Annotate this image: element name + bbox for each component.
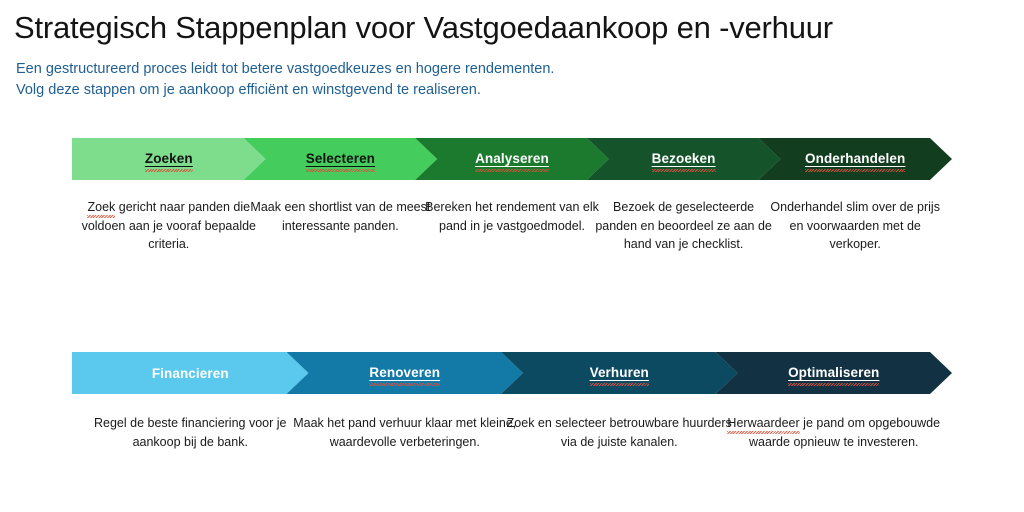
chevron-step-verhuren[interactable]: Verhuren — [501, 352, 738, 394]
chevron-step-financieren[interactable]: Financieren — [72, 352, 309, 394]
step-description-bezoeken: Bezoek de geselecteerde panden en beoord… — [587, 198, 781, 254]
chevron-step-label: Bezoeken — [652, 151, 716, 167]
page-subtitle: Een gestructureerd proces leidt tot bete… — [16, 59, 1024, 101]
process-row-exploitatie-fase: FinancierenRenoverenVerhurenOptimalisere… — [0, 352, 1024, 408]
page-title: Strategisch Stappenplan voor Vastgoedaan… — [14, 8, 1024, 48]
chevron-step-label: Selecteren — [306, 151, 375, 167]
step-description-onderhandelen: Onderhandel slim over de prijs en voorwa… — [758, 198, 952, 254]
step-description-verhuren: Zoek en selecteer betrouwbare huurders v… — [501, 414, 738, 451]
description-band-green: Zoek gericht naar panden die voldoen aan… — [72, 180, 952, 194]
process-row-aankoop-fase: ZoekenSelecterenAnalyserenBezoekenOnderh… — [0, 138, 1024, 194]
step-description-analyseren: Bereken het rendement van elk pand in je… — [415, 198, 609, 235]
subtitle-line-1: Een gestructureerd proces leidt tot bete… — [16, 59, 1024, 80]
chevron-step-label: Renoveren — [369, 365, 440, 381]
chevron-step-onderhandelen[interactable]: Onderhandelen — [758, 138, 952, 180]
chevron-step-zoeken[interactable]: Zoeken — [72, 138, 266, 180]
chevron-step-label: Onderhandelen — [805, 151, 905, 167]
chevron-step-label: Analyseren — [475, 151, 549, 167]
description-band-blue: Regel de beste financiering voor je aank… — [72, 394, 952, 408]
step-description-selecteren: Maak een shortlist van de meest interess… — [244, 198, 438, 235]
chevron-step-label: Verhuren — [590, 365, 649, 381]
chevron-step-optimaliseren[interactable]: Optimaliseren — [716, 352, 953, 394]
spellcheck-word: Zoek — [87, 198, 115, 217]
chevron-step-renoveren[interactable]: Renoveren — [287, 352, 524, 394]
chevron-step-label: Financieren — [152, 366, 229, 381]
chevron-step-analyseren[interactable]: Analyseren — [415, 138, 609, 180]
step-description-renoveren: Maak het pand verhuur klaar met kleine, … — [287, 414, 524, 451]
chevron-step-label: Zoeken — [145, 151, 193, 167]
spellcheck-word: Herwaardeer — [727, 414, 799, 433]
chevron-band-blue: FinancierenRenoverenVerhurenOptimalisere… — [72, 352, 952, 394]
step-description-zoeken: Zoek gericht naar panden die voldoen aan… — [72, 198, 266, 254]
chevron-step-label: Optimaliseren — [788, 365, 879, 381]
chevron-band-green: ZoekenSelecterenAnalyserenBezoekenOnderh… — [72, 138, 952, 180]
chevron-step-bezoeken[interactable]: Bezoeken — [587, 138, 781, 180]
page-header: Strategisch Stappenplan voor Vastgoedaan… — [0, 0, 1024, 101]
chevron-step-selecteren[interactable]: Selecteren — [244, 138, 438, 180]
step-description-optimaliseren: Herwaardeer je pand om opgebouwde waarde… — [716, 414, 953, 451]
subtitle-line-2: Volg deze stappen om je aankoop efficiën… — [16, 80, 1024, 101]
step-description-financieren: Regel de beste financiering voor je aank… — [72, 414, 309, 451]
